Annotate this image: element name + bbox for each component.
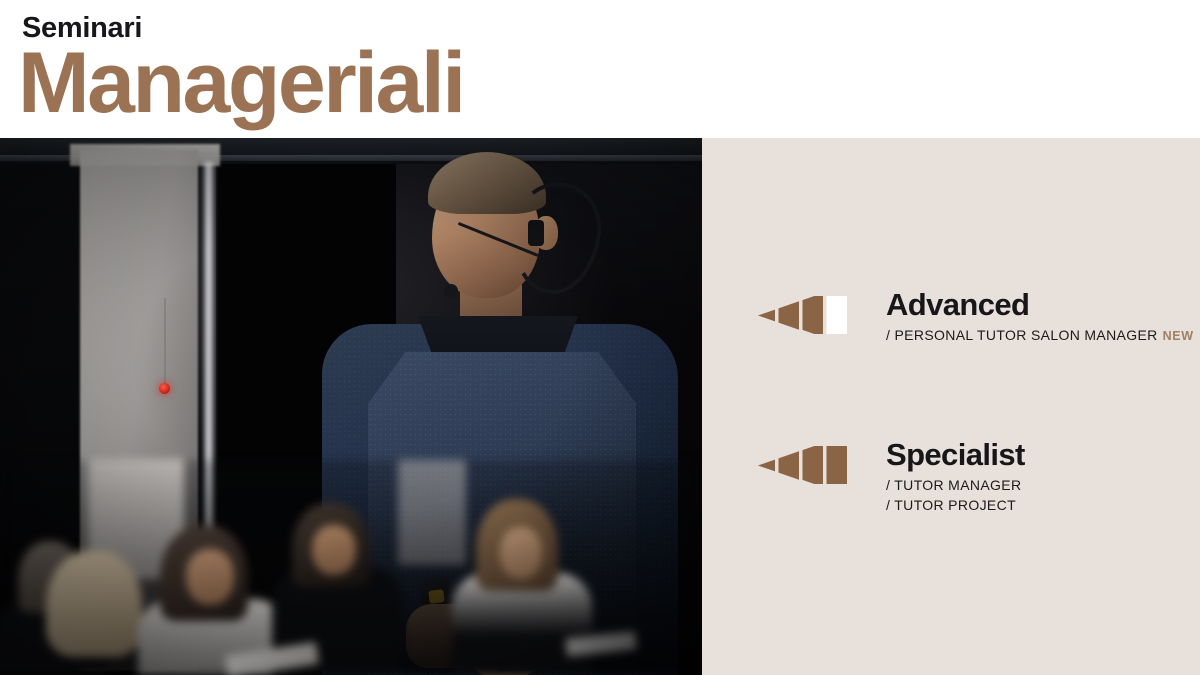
headset-earpad-icon	[528, 220, 544, 246]
level-specialist-course-list: / TUTOR MANAGER / TUTOR PROJECT	[886, 476, 1025, 516]
audience-member-face	[186, 549, 234, 605]
level-specialist-title: Specialist	[886, 438, 1025, 471]
audience-foreground	[0, 460, 702, 675]
audience-wall-panel-2	[398, 460, 466, 565]
microphone-icon	[444, 284, 458, 298]
course-item[interactable]: / TUTOR PROJECT	[886, 496, 1025, 516]
level-advanced-text: Advanced / PERSONAL TUTOR SALON MANAGERN…	[886, 288, 1194, 346]
status-badge: NEW	[1163, 329, 1194, 343]
left-pointing-segmented-arrow-icon	[758, 446, 848, 484]
slide-root: Seminari Manageriali	[0, 0, 1200, 675]
course-item[interactable]: / PERSONAL TUTOR SALON MANAGERNEW	[886, 326, 1194, 346]
audience-member-head	[46, 551, 142, 657]
audience-member-face	[500, 527, 542, 579]
course-label: / TUTOR MANAGER	[886, 477, 1021, 493]
course-label: / PERSONAL TUTOR SALON MANAGER	[886, 327, 1158, 343]
course-item[interactable]: / TUTOR MANAGER	[886, 476, 1025, 496]
page-title: Manageriali	[18, 40, 464, 126]
audience-member-face	[312, 525, 356, 575]
levels-panel: Advanced / PERSONAL TUTOR SALON MANAGERN…	[702, 138, 1200, 675]
left-pointing-segmented-arrow-icon	[758, 296, 848, 334]
level-advanced-title: Advanced	[886, 288, 1194, 321]
level-advanced-course-list: / PERSONAL TUTOR SALON MANAGERNEW	[886, 326, 1194, 346]
level-specialist-text: Specialist / TUTOR MANAGER / TUTOR PROJE…	[886, 438, 1025, 516]
slide-header: Seminari Manageriali	[0, 0, 1200, 138]
course-label: / TUTOR PROJECT	[886, 497, 1016, 513]
stage-photo	[0, 138, 702, 675]
